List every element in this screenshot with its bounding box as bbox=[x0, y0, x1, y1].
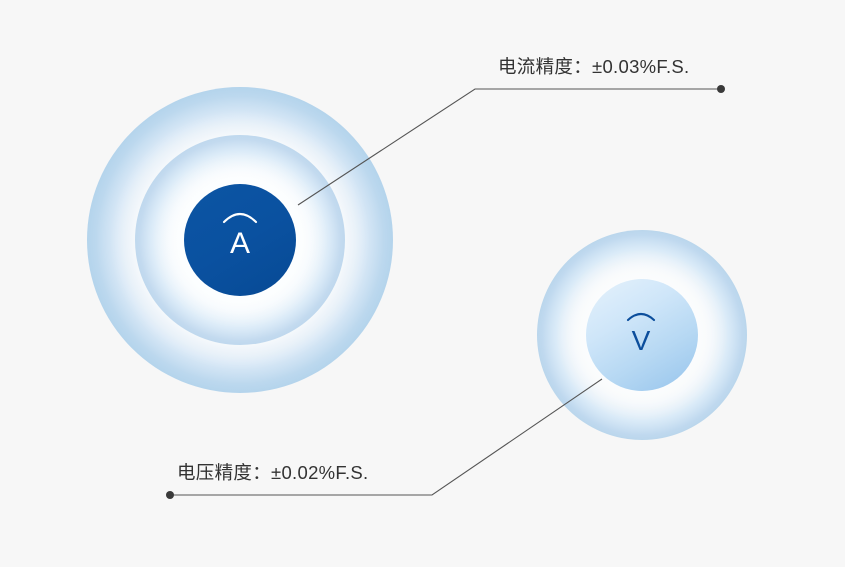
diagram-canvas: A V 电流精度：±0.03%F.S. 电压精度：±0.02%F.S. bbox=[0, 0, 845, 567]
leader-endpoint-dot-voltage bbox=[166, 491, 174, 499]
voltmeter-symbol-letter: V bbox=[632, 325, 651, 356]
voltage-accuracy-label: 电压精度：±0.02%F.S. bbox=[177, 464, 368, 483]
ammeter-group: A bbox=[87, 87, 393, 393]
leader-endpoint-dot-current bbox=[717, 85, 725, 93]
current-accuracy-label: 电流精度：±0.03%F.S. bbox=[498, 58, 689, 77]
voltmeter-group: V bbox=[537, 230, 747, 440]
accuracy-diagram-graphic: A V bbox=[0, 0, 845, 567]
ammeter-symbol-letter: A bbox=[230, 227, 250, 260]
